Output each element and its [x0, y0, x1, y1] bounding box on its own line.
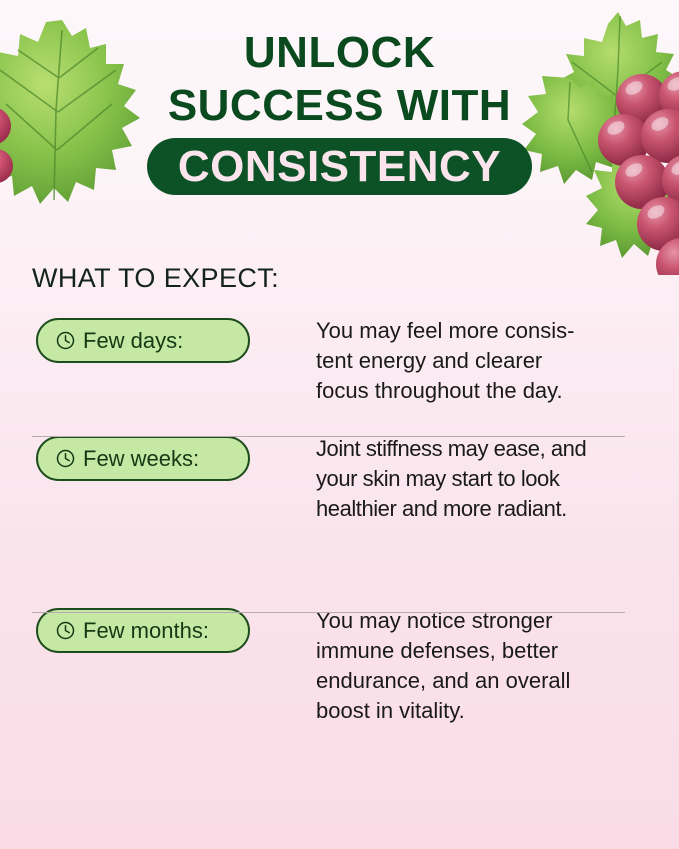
expectation-list: Few days: You may feel more consis- tent… — [0, 318, 679, 758]
expectation-text-line: immune defenses, better — [316, 636, 636, 666]
poster-canvas: Unlock Success With Consistency What to … — [0, 0, 679, 849]
row-divider — [32, 436, 625, 437]
consistency-banner-text: Consistency — [178, 145, 501, 189]
list-item: Few months: You may notice stronger immu… — [0, 608, 679, 758]
headline-block: Unlock Success With Consistency — [0, 26, 679, 195]
consistency-banner: Consistency — [147, 138, 532, 195]
expectation-text-line: focus throughout the day. — [316, 376, 636, 406]
timeframe-pill-label: Few months: — [83, 620, 209, 642]
clock-icon — [56, 621, 75, 640]
timeframe-pill-few-weeks: Few weeks: — [36, 436, 250, 481]
expectation-text-line: healthier and more radiant. — [316, 494, 636, 524]
expectation-text-line: Joint stiffness may ease, and — [316, 434, 636, 464]
expectation-text-line: tent energy and clearer — [316, 346, 636, 376]
expectation-text-line: You may feel more consis- — [316, 316, 636, 346]
expectation-text: You may notice stronger immune defenses,… — [316, 606, 636, 726]
timeframe-pill-label: Few days: — [83, 330, 183, 352]
headline-line-1: Unlock — [0, 26, 679, 79]
clock-icon — [56, 449, 75, 468]
expectation-text-line: You may notice stronger — [316, 606, 636, 636]
clock-icon — [56, 331, 75, 350]
list-item: Few days: You may feel more consis- tent… — [0, 318, 679, 436]
expectation-text-line: your skin may start to look — [316, 464, 636, 494]
timeframe-pill-few-days: Few days: — [36, 318, 250, 363]
expectation-text-line: boost in vitality. — [316, 696, 636, 726]
timeframe-pill-few-months: Few months: — [36, 608, 250, 653]
expectation-text-line: endurance, and an overall — [316, 666, 636, 696]
timeframe-pill-label: Few weeks: — [83, 448, 199, 470]
list-item: Few weeks: Joint stiffness may ease, and… — [0, 436, 679, 608]
page-title: What to expect: — [32, 262, 279, 294]
row-divider — [32, 612, 625, 613]
expectation-text: You may feel more consis- tent energy an… — [316, 316, 636, 406]
headline-line-2: Success With — [0, 79, 679, 132]
expectation-text: Joint stiffness may ease, and your skin … — [316, 434, 636, 524]
